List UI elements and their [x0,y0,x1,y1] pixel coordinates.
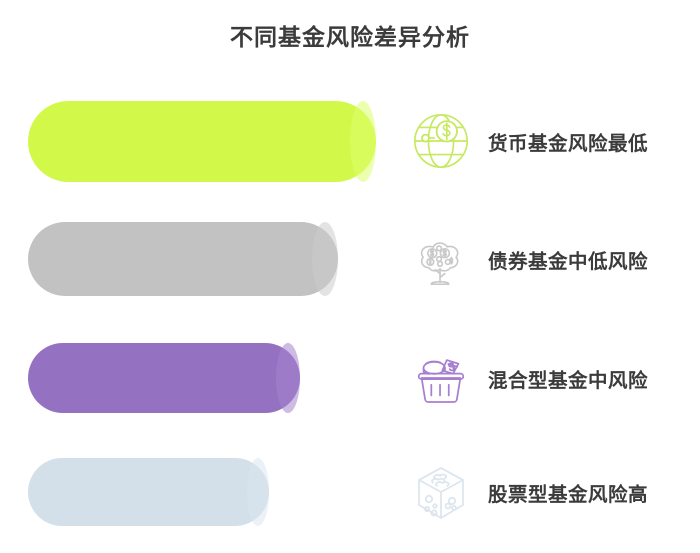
row-label-money-fund: 货币基金风险最低 [488,127,648,156]
globe-dollar-icon [404,103,478,179]
money-basket-icon [404,340,478,416]
bar-stock-fund[interactable] [28,458,269,526]
row-label-stock-fund: 股票型基金风险高 [488,478,648,507]
bar-bond-fund[interactable] [28,222,338,296]
bar-end-cap [276,343,300,413]
bar-end-cap [312,222,338,296]
bar-end-cap [350,101,376,182]
bar-fill [28,343,300,413]
row-label-bond-fund: 债券基金中低风险 [488,245,648,274]
bar-fill [28,458,269,526]
bar-end-cap [247,458,269,526]
dice-cube-icon [404,455,478,531]
row-label-hybrid-fund: 混合型基金中风险 [488,364,648,393]
money-tree-icon [404,222,478,298]
bar-money-fund[interactable] [28,101,376,182]
bar-fill [28,101,376,182]
bar-hybrid-fund[interactable] [28,343,300,413]
risk-bar-chart: 货币基金风险最低 [0,0,700,553]
bar-fill [28,222,338,296]
